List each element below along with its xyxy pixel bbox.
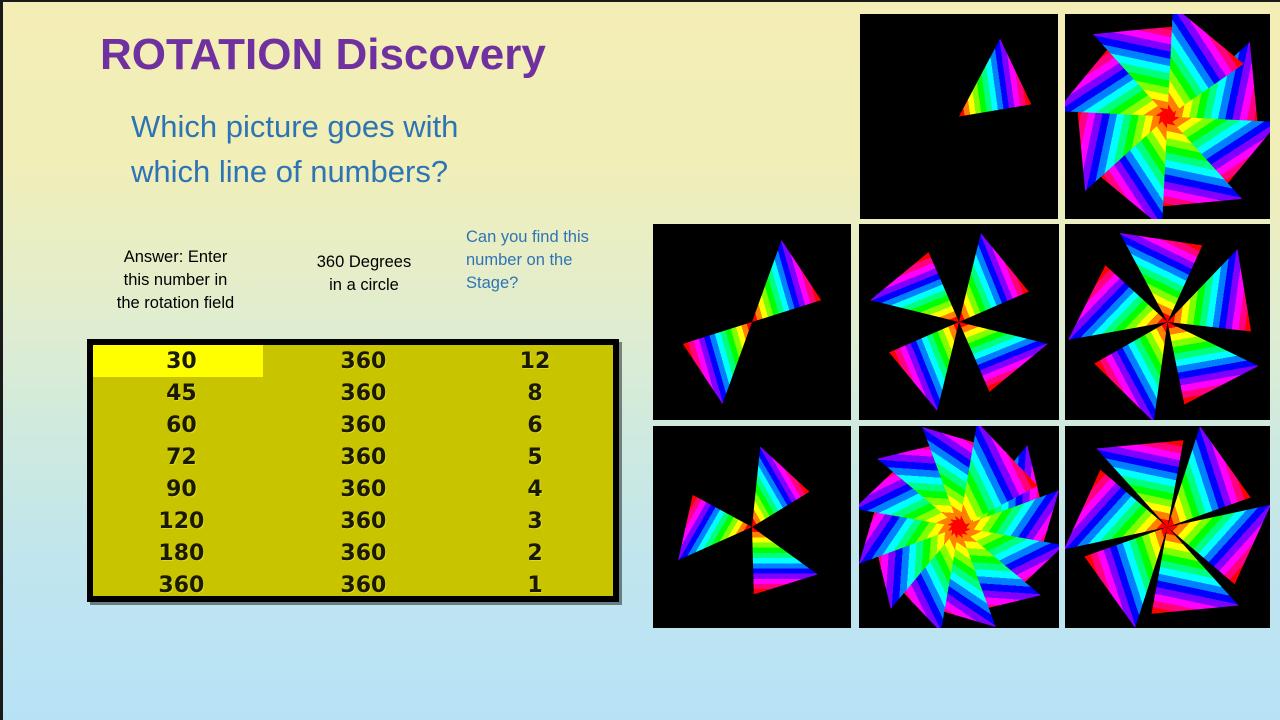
table-cell-rotation_degrees: 120 (93, 505, 270, 537)
table-cell-circle_degrees: 360 (270, 569, 457, 601)
title-word-discovery: Discovery (323, 30, 546, 79)
table-row[interactable]: 723605 (93, 441, 613, 473)
figure-360-one-triangle[interactable] (860, 14, 1058, 219)
table-cell-circle_degrees: 360 (270, 537, 457, 569)
figure-120-three-arms[interactable] (653, 426, 851, 628)
triangle-copy (719, 437, 810, 527)
triangle-copy (661, 493, 752, 583)
table-row[interactable]: 1803602 (93, 537, 613, 569)
table-cell-copies: 12 (457, 345, 613, 377)
table-cell-copies: 2 (457, 537, 613, 569)
table-cell-rotation_degrees: 60 (93, 409, 270, 441)
caption-stage: Can you find this number on the Stage? (466, 226, 642, 294)
figure-45-eight-arms[interactable] (1065, 14, 1270, 219)
table-row[interactable]: 453608 (93, 377, 613, 409)
slide-canvas: ROTATION Discovery Which picture goes wi… (0, 0, 1280, 720)
title-word-rotation: ROTATION (100, 30, 323, 79)
triangle-copy (752, 527, 818, 594)
rotation-table-grid: 3036012453608603606723605903604120360318… (93, 345, 613, 601)
table-row[interactable]: 3036012 (93, 345, 613, 377)
table-cell-rotation_degrees: 45 (93, 377, 270, 409)
table-cell-circle_degrees: 360 (270, 473, 457, 505)
table-cell-rotation_degrees: 180 (93, 537, 270, 569)
table-cell-copies: 5 (457, 441, 613, 473)
table-row[interactable]: 903604 (93, 473, 613, 505)
figure-72-five-arms[interactable] (1065, 224, 1270, 420)
table-cell-rotation_degrees: 30 (93, 345, 270, 377)
table-cell-copies: 4 (457, 473, 613, 505)
rotation-table[interactable]: 3036012453608603606723605903604120360318… (87, 339, 619, 602)
table-cell-circle_degrees: 360 (270, 377, 457, 409)
table-cell-copies: 6 (457, 409, 613, 441)
triangle-copy (733, 234, 822, 322)
table-cell-circle_degrees: 360 (270, 505, 457, 537)
page-subtitle: Which picture goes with which line of nu… (131, 105, 458, 195)
figure-30-twelve-arms[interactable] (859, 426, 1059, 628)
caption-degrees: 360 Degrees in a circle (285, 251, 443, 297)
table-cell-circle_degrees: 360 (270, 441, 457, 473)
caption-answer: Answer: Enter this number in the rotatio… (73, 246, 278, 314)
figure-90-four-arms[interactable] (859, 224, 1059, 420)
table-cell-rotation_degrees: 360 (93, 569, 270, 601)
table-row[interactable]: 603606 (93, 409, 613, 441)
triangle-copy (949, 36, 1031, 117)
table-cell-copies: 1 (457, 569, 613, 601)
page-title: ROTATION Discovery (100, 30, 546, 80)
table-cell-copies: 8 (457, 377, 613, 409)
figure-180-two-arms[interactable] (653, 224, 851, 420)
triangle-copy (682, 322, 771, 410)
table-row[interactable]: 3603601 (93, 569, 613, 601)
figure-60-six-arms[interactable] (1065, 426, 1270, 628)
table-cell-copies: 3 (457, 505, 613, 537)
table-cell-circle_degrees: 360 (270, 409, 457, 441)
table-cell-circle_degrees: 360 (270, 345, 457, 377)
table-row[interactable]: 1203603 (93, 505, 613, 537)
table-cell-rotation_degrees: 90 (93, 473, 270, 505)
table-cell-rotation_degrees: 72 (93, 441, 270, 473)
